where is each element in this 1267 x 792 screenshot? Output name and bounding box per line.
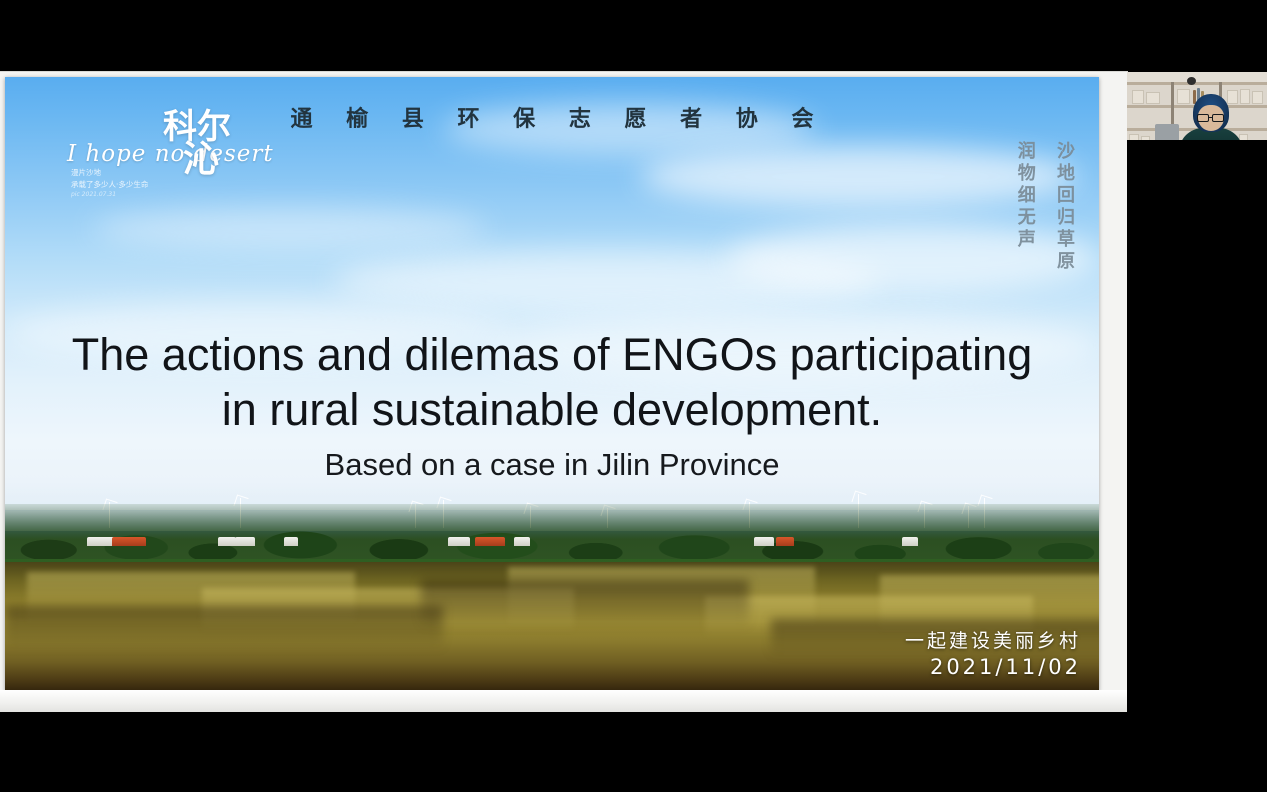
letterbox-right	[1127, 170, 1267, 792]
logo-cn-char-3: 沁	[183, 143, 231, 177]
participant-glasses	[1212, 114, 1224, 122]
organization-name-heading: 通 榆 县 环 保 志 愿 者 协 会	[5, 101, 1099, 133]
screen-root: I hope no desert 科尔 沁 漫片沙地 承载了多少人·多少生命 p…	[0, 0, 1267, 792]
shelf-box	[1177, 89, 1190, 104]
logo-subtext-line-1: 漫片沙地	[71, 167, 148, 179]
shelf-box	[1252, 91, 1263, 104]
slide-subtitle: Based on a case in Jilin Province	[5, 445, 1099, 485]
logo-subtext: 漫片沙地 承载了多少人·多少生命 pic 2021.07.31	[71, 167, 148, 200]
vertical-couplet: 润物细无声 沙地回归草原	[1008, 141, 1081, 273]
shelf-box	[1146, 92, 1160, 104]
video-tile-letterbox	[1127, 140, 1267, 170]
shared-slide-stage[interactable]: I hope no desert 科尔 沁 漫片沙地 承载了多少人·多少生命 p…	[0, 72, 1127, 712]
room-wall	[1127, 72, 1267, 82]
letterbox-top	[0, 0, 1267, 72]
logo-subtext-line-2: 承载了多少人·多少生命	[71, 179, 148, 191]
participant-video-tile[interactable]	[1127, 72, 1267, 170]
shelf-box	[1240, 89, 1250, 104]
slide-title: The actions and dilemas of ENGOs partici…	[5, 327, 1099, 438]
participant-glasses-bridge	[1208, 117, 1213, 118]
shelf-ornament	[1187, 77, 1196, 85]
slide-date: 2021/11/02	[905, 655, 1081, 679]
slide-slogan: 一起建设美丽乡村	[905, 626, 1081, 653]
participant-glasses	[1197, 114, 1209, 122]
couplet-right-column: 沙地回归草原	[1048, 141, 1081, 273]
slide-footer-block: 一起建设美丽乡村 2021/11/02	[905, 626, 1081, 679]
slide-text-layer: I hope no desert 科尔 沁 漫片沙地 承载了多少人·多少生命 p…	[5, 77, 1099, 691]
letterbox-bottom	[0, 712, 1267, 792]
shelf-box	[1132, 90, 1144, 104]
logo-subtext-line-3: pic 2021.07.31	[71, 190, 148, 199]
shelf-box	[1227, 90, 1238, 104]
couplet-left-column: 润物细无声	[1008, 141, 1041, 273]
presentation-slide[interactable]: I hope no desert 科尔 沁 漫片沙地 承载了多少人·多少生命 p…	[5, 77, 1099, 691]
